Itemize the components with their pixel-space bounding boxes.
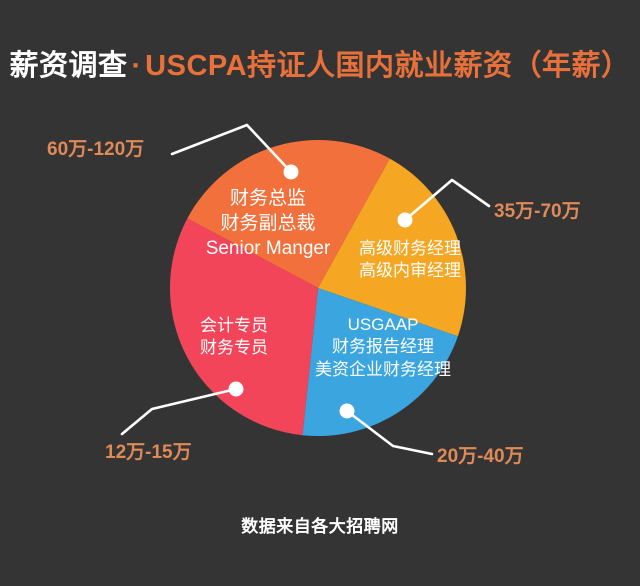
pie-chart-svg (0, 0, 640, 586)
callout-value-red: 12万-15万 (105, 437, 192, 464)
callout-value-orange: 60万-120万 (47, 134, 144, 161)
callout-value-yellow: 35万-70万 (494, 196, 581, 223)
callout-value-blue: 20万-40万 (437, 441, 524, 468)
pie-chart: 财务总监 财务副总裁 Senior Manger 高级财务经理 高级内审经理 U… (0, 0, 640, 586)
data-source-note: 数据来自各大招聘网 (0, 512, 640, 537)
infographic-root: 薪资调查·USCPA持证人国内就业薪资（年薪） (0, 0, 640, 586)
